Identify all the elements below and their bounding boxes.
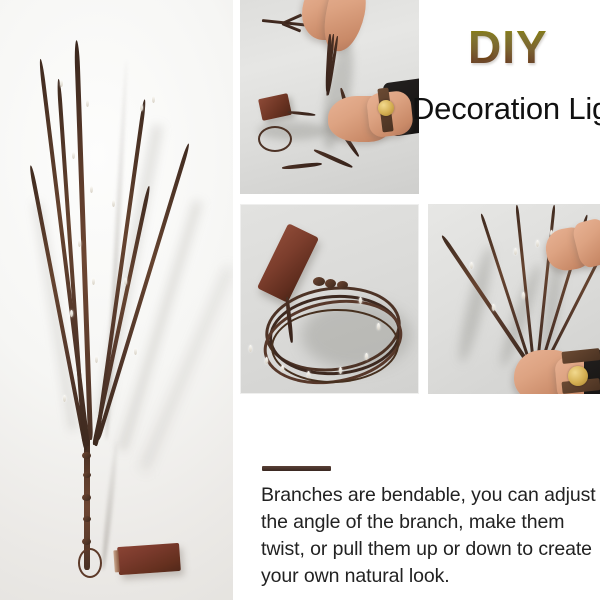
led-node	[86, 100, 89, 107]
branch-twist-knob	[82, 538, 91, 545]
led-node	[78, 240, 81, 247]
led-node	[514, 248, 517, 255]
finger	[334, 120, 354, 132]
led-node	[536, 240, 539, 247]
led-node	[112, 200, 115, 207]
led-node	[70, 310, 73, 317]
hands-bending-branch-photo	[240, 0, 419, 194]
led-node	[365, 353, 368, 360]
branch-twist-knob	[82, 494, 91, 501]
led-node	[339, 367, 342, 374]
led-node	[140, 104, 143, 111]
led-node	[377, 323, 380, 330]
led-node	[359, 297, 362, 304]
led-node	[249, 345, 252, 352]
branch-twist-knob	[82, 452, 91, 459]
hands-arranging-branches-photo	[428, 204, 600, 394]
led-node	[90, 186, 93, 193]
led-node	[522, 292, 525, 299]
product-hero-photo	[0, 0, 233, 600]
led-node	[152, 96, 155, 103]
page-subtitle: Decoration Light	[412, 93, 600, 124]
page-title: DIY	[468, 24, 548, 70]
branch-twist-knob	[83, 472, 91, 478]
finger	[313, 28, 325, 44]
led-node	[281, 365, 284, 372]
led-node	[265, 357, 268, 364]
coiled-product-photo	[240, 204, 419, 394]
branch-bundle	[282, 162, 322, 170]
power-wire	[78, 548, 102, 578]
branch-twist-knob	[325, 279, 336, 288]
body-description: Branches are bendable, you can adjust th…	[261, 482, 600, 590]
led-node	[60, 80, 63, 87]
battery-wire	[287, 111, 315, 117]
branch-right-mid	[92, 185, 151, 445]
divider-rule	[262, 466, 331, 471]
led-node	[134, 348, 137, 355]
led-node	[307, 371, 310, 378]
battery-box	[117, 543, 181, 575]
led-node	[63, 395, 66, 402]
hero-wall-shadow	[140, 266, 232, 471]
branch-twist-knob	[83, 516, 91, 522]
led-node	[124, 278, 127, 285]
led-node	[95, 356, 98, 363]
watch-face	[378, 100, 394, 116]
branch-coil	[258, 126, 292, 152]
product-marketing-image: DIY Decoration Light Branches are bendab…	[0, 0, 600, 600]
watch-face	[568, 366, 588, 386]
branch-twist-knob	[337, 281, 348, 289]
branch-bundle	[313, 148, 353, 169]
battery-box	[258, 93, 292, 121]
led-node	[492, 304, 495, 311]
branch-twist-knob	[313, 277, 325, 286]
led-node	[92, 278, 95, 285]
led-node	[470, 262, 473, 269]
led-node	[72, 152, 75, 159]
